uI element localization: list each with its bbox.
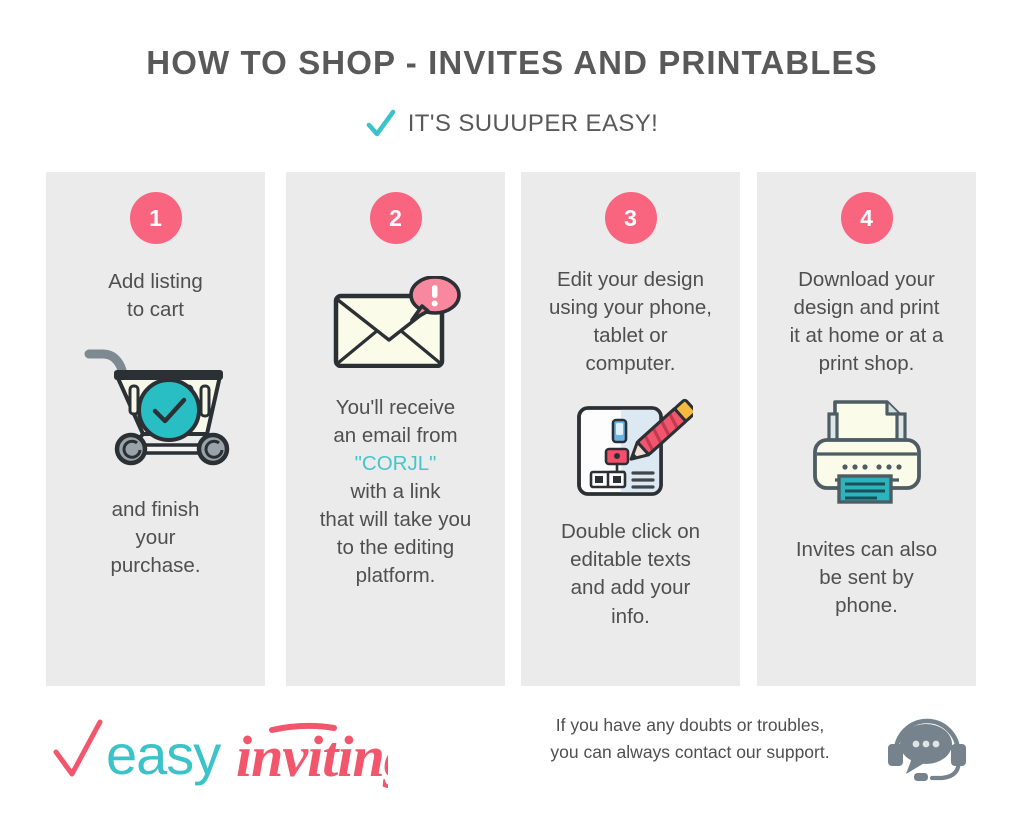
- step-panel-2: 2 You'll receive an email from "CORJL" w: [286, 172, 505, 686]
- envelope-notification-icon: [330, 276, 462, 368]
- step-text-bottom-4: Invites can also be sent by phone.: [769, 536, 965, 620]
- headset-support-icon: [884, 704, 970, 782]
- step-number-badge-1: 1: [130, 192, 182, 244]
- page-title: HOW TO SHOP - INVITES AND PRINTABLES: [0, 44, 1024, 82]
- check-icon: [56, 722, 100, 774]
- step-text-bottom-3: Double click on editable texts and add y…: [533, 518, 729, 630]
- step-panel-4: 4 Download your design and print it at h…: [757, 172, 976, 686]
- step-number-badge-3: 3: [605, 192, 657, 244]
- step-text-bottom-2-post: with a link that will take you to the ed…: [298, 478, 494, 590]
- page-subtitle: IT'S SUUUPER EASY!: [0, 108, 1024, 140]
- page-subtitle-label: IT'S SUUUPER EASY!: [408, 110, 659, 138]
- support-message: If you have any doubts or troubles, you …: [505, 712, 875, 766]
- step-panel-3: 3 Edit your design using your phone, tab…: [521, 172, 740, 686]
- step-text-top-3: Edit your design using your phone, table…: [533, 266, 729, 378]
- step-text-bottom-1: and finish your purchase.: [58, 496, 254, 580]
- step-text-highlight-2: "CORJL": [298, 450, 494, 478]
- edit-design-pencil-icon: [569, 394, 693, 500]
- step-number-badge-2: 2: [370, 192, 422, 244]
- shopping-cart-icon: [81, 342, 231, 470]
- brand-logo[interactable]: easy inviting: [48, 708, 388, 798]
- svg-text:inviting: inviting: [236, 724, 388, 789]
- step-text-top-1: Add listing to cart: [58, 268, 254, 324]
- support-message-line-1: If you have any doubts or troubles,: [505, 712, 875, 739]
- footer: easy inviting If you have any doubts or …: [0, 690, 1024, 819]
- step-panel-1: 1 Add listing to cart: [46, 172, 265, 686]
- svg-text:easy: easy: [106, 723, 221, 786]
- step-text-bottom-2-pre: You'll receive an email from: [298, 394, 494, 450]
- check-icon: [366, 108, 396, 140]
- steps-container: 1 Add listing to cart: [46, 172, 978, 686]
- infographic-page: HOW TO SHOP - INVITES AND PRINTABLES IT'…: [0, 0, 1024, 819]
- printer-icon: [807, 396, 927, 504]
- step-number-badge-4: 4: [841, 192, 893, 244]
- support-message-line-2: you can always contact our support.: [505, 739, 875, 766]
- step-text-top-4: Download your design and print it at hom…: [769, 266, 965, 378]
